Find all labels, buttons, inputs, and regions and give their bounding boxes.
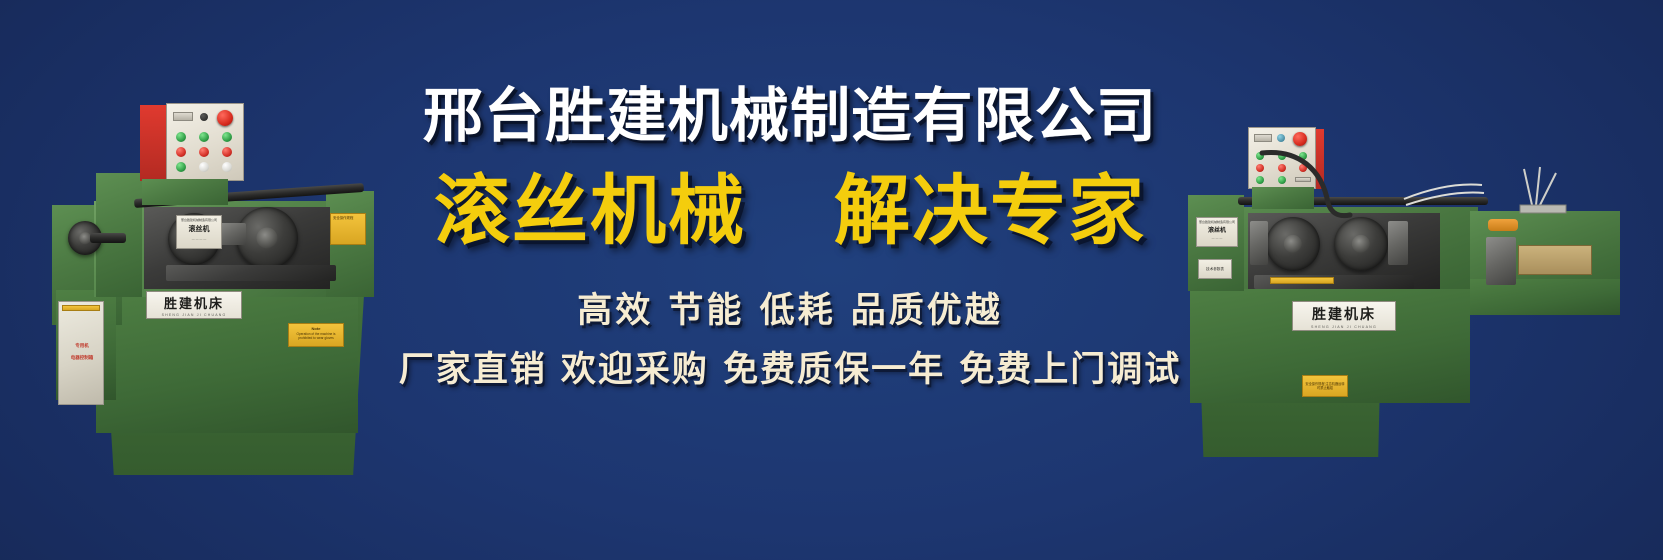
machine-left-electric-box-strip <box>62 305 100 311</box>
machine-right-feed-tray <box>1270 277 1334 284</box>
promo-banner: 邢台胜建机械制造有限公司 滚丝机 — — — — 胜建机床 SHENG JIAN… <box>0 0 1663 560</box>
machine-right-brand-plate-pinyin: SHENG JIAN JI CHUANG <box>1311 325 1377 329</box>
machine-right-brand-plate: 胜建机床 SHENG JIAN JI CHUANG <box>1292 301 1396 331</box>
panel-left-button-g1 <box>176 132 186 142</box>
machine-left-warning-label-text: Operation of the machine is prohibited t… <box>291 332 341 341</box>
machine-right-data-label: 技术参数表 <box>1198 259 1232 279</box>
machine-left-pulley-shaft <box>90 233 126 243</box>
machine-left-electric-box-text: 专用机 电器控制箱 <box>62 343 102 369</box>
machine-left-spec-plate-title: 滚丝机 <box>177 224 221 234</box>
panel-right-emergency-stop-icon <box>1293 132 1307 146</box>
slogan-row: 滚丝机械 解决专家 <box>380 171 1200 250</box>
machine-left-slide-table <box>166 265 336 281</box>
panel-left-button-g2 <box>199 132 209 142</box>
machine-left-warning-label: Note Operation of the machine is prohibi… <box>288 323 344 347</box>
machine-right-spec-plate-title: 滚丝机 <box>1197 225 1237 234</box>
machine-left-brand-plate-cn: 胜建机床 <box>164 293 224 312</box>
machine-right-warning-label: 安全操作规程 注意机器运转时禁止触碰 <box>1302 375 1348 397</box>
sub-line-2: 厂家直销 欢迎采购 免费质保一年 免费上门调试 <box>380 351 1200 390</box>
panel-left-button-w2 <box>222 162 232 172</box>
banner-text-block: 邢台胜建机械制造有限公司 滚丝机械 解决专家 高效 节能 低耗 品质优越 厂家直… <box>380 86 1200 389</box>
panel-left-button-g3 <box>222 132 232 142</box>
machine-photo-left: 邢台胜建机械制造有限公司 滚丝机 — — — — 胜建机床 SHENG JIAN… <box>30 95 420 485</box>
machine-right-tail-plate <box>1518 245 1592 275</box>
machine-right-slide-left <box>1250 221 1268 265</box>
machine-left-right-label: 安全操作规程 <box>330 213 366 245</box>
machine-left-spec-plate: 邢台胜建机械制造有限公司 滚丝机 — — — — <box>176 215 222 249</box>
machine-right-tail-fixture <box>1486 237 1516 285</box>
machine-right-hose-icon <box>1254 147 1494 227</box>
panel-left-button-r1 <box>176 147 186 157</box>
panel-left-selector-knob <box>200 113 208 121</box>
machine-left-warning-label-title: Note <box>291 326 341 331</box>
panel-left-button-w1 <box>199 162 209 172</box>
company-name: 邢台胜建机械制造有限公司 <box>372 86 1208 145</box>
machine-left-panel-pedestal <box>142 179 228 205</box>
panel-left-button-g4 <box>176 162 186 172</box>
panel-left-button-r2 <box>199 147 209 157</box>
machine-left-panel-side <box>140 105 166 181</box>
machine-photo-right: 邢台胜建机械制造有限公司 滚丝机 — — — 技术参数表 胜建机床 SHENG … <box>1170 125 1640 465</box>
machine-left-spec-plate-head: 邢台胜建机械制造有限公司 <box>177 219 221 223</box>
machine-left-brand-plate: 胜建机床 SHENG JIAN JI CHUANG <box>146 291 242 319</box>
slogan-left: 滚丝机械 <box>434 171 746 250</box>
machine-left-side-label-2: 电器控制箱 <box>62 355 102 361</box>
machine-right-warning-label-text: 安全操作规程 注意机器运转时禁止触碰 <box>1305 382 1345 391</box>
machine-right-slide-right <box>1388 221 1408 265</box>
machine-right-data-label-text: 技术参数表 <box>1206 267 1224 272</box>
sub-line-1: 高效 节能 低耗 品质优越 <box>380 292 1200 331</box>
panel-left-button-r3 <box>222 147 232 157</box>
panel-left-emergency-stop-icon <box>217 110 233 126</box>
machine-left-right-label-text: 安全操作规程 <box>333 216 363 221</box>
machine-right-brand-plate-cn: 胜建机床 <box>1312 304 1376 324</box>
machine-left-control-panel <box>166 103 244 181</box>
machine-right-spec-plate: 邢台胜建机械制造有限公司 滚丝机 — — — <box>1196 217 1238 247</box>
machine-right-antenna-icon <box>1506 165 1616 225</box>
slogan-right: 解决专家 <box>834 171 1146 250</box>
machine-left-brand-plate-pinyin: SHENG JIAN JI CHUANG <box>162 313 227 317</box>
panel-right-meter <box>1254 134 1272 142</box>
machine-left-side-label-1: 专用机 <box>62 343 102 349</box>
panel-right-indicator-lamp <box>1277 134 1285 142</box>
panel-left-meter <box>173 112 193 121</box>
